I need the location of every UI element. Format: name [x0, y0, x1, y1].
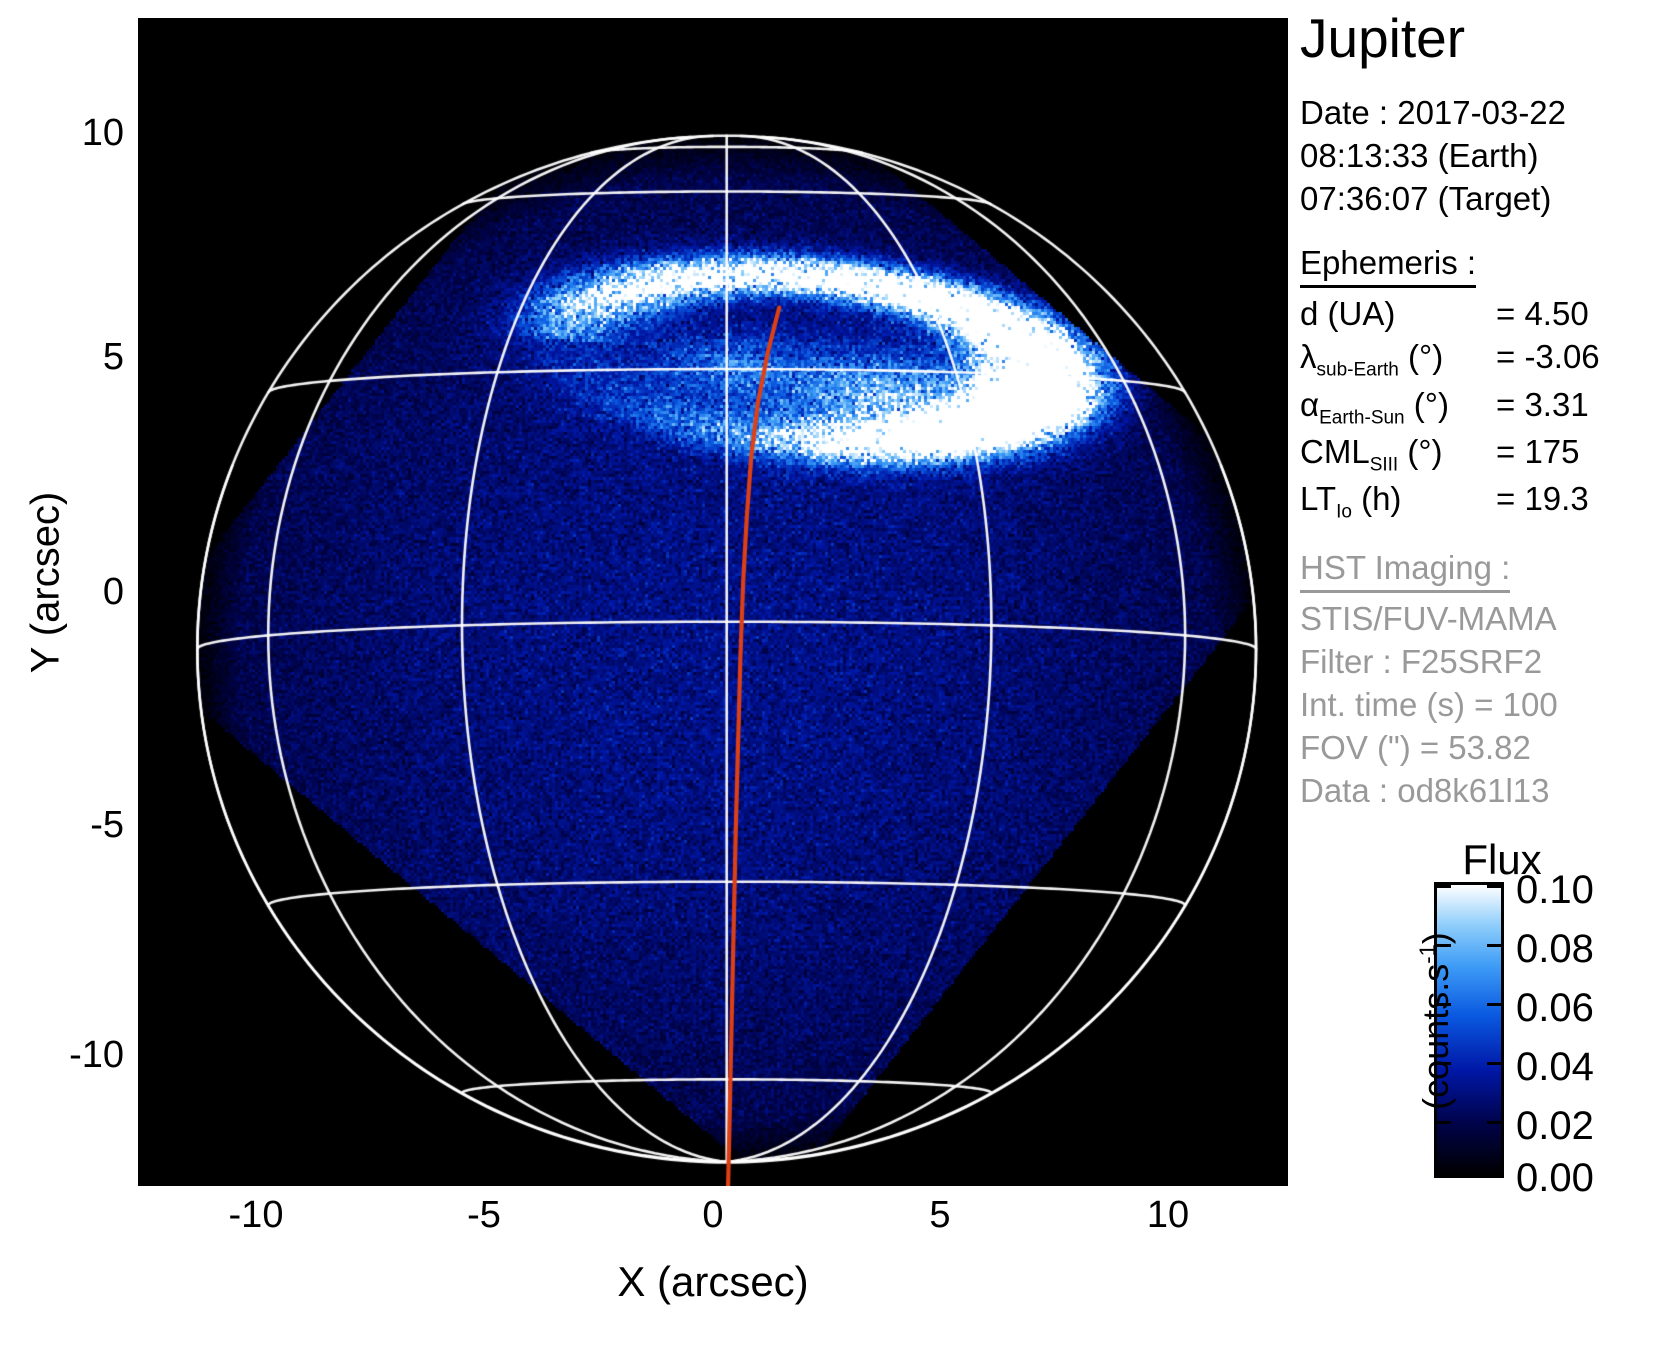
target-title: Jupiter: [1300, 10, 1676, 68]
ephemeris-key-distance-ua: d (UA): [1300, 293, 1496, 336]
colorbar-label-0-02: 0.02: [1516, 1106, 1594, 1146]
ephemeris-value-alpha-earth-sun: = 3.31: [1496, 384, 1589, 431]
y-tick-label-10: 10: [58, 114, 124, 152]
ephemeris-heading: Ephemeris :: [1300, 244, 1476, 288]
hst-instrument: STIS/FUV-MAMA: [1300, 598, 1676, 641]
observation-time-earth: 08:13:33 (Earth): [1300, 135, 1676, 178]
ephemeris-row-alpha-earth-sun: αEarth-Sun (°) = 3.31: [1300, 384, 1676, 431]
colorbar-tick-right-0: [1487, 885, 1501, 888]
colorbar-label-0-06: 0.06: [1516, 988, 1594, 1028]
spacer-2: [1300, 525, 1676, 549]
hst-fov: FOV (") = 53.82: [1300, 727, 1676, 770]
ephemeris-value-lt-io: = 19.3: [1496, 478, 1589, 525]
hst-imaging-section: HST Imaging : STIS/FUV-MAMA Filter : F25…: [1300, 549, 1676, 812]
colorbar-label-0-04: 0.04: [1516, 1047, 1594, 1087]
colorbar-unit-label: (counts.s-1): [1415, 871, 1457, 1171]
hst-imaging-heading: HST Imaging :: [1300, 549, 1510, 593]
hst-dataset-id: Data : od8k61l13: [1300, 770, 1676, 813]
observation-date: Date : 2017-03-22: [1300, 92, 1676, 135]
colorbar-label-0-08: 0.08: [1516, 929, 1594, 969]
ephemeris-key-alpha-earth-sun: αEarth-Sun (°): [1300, 384, 1496, 431]
ephemeris-key-cml-siii: CMLSIII (°): [1300, 431, 1496, 478]
ephemeris-key-lambda-sub-earth: λsub-Earth (°): [1300, 336, 1496, 383]
ephemeris-row-lambda-sub-earth: λsub-Earth (°) = -3.06: [1300, 336, 1676, 383]
info-panel: Jupiter Date : 2017-03-22 08:13:33 (Eart…: [1300, 10, 1676, 813]
x-tick-label-5: 5: [880, 1196, 1000, 1234]
colorbar-tick-right-4: [1487, 1121, 1501, 1124]
x-tick-label-0: 0: [653, 1196, 773, 1234]
colorbar-tick-right-2: [1487, 1003, 1501, 1006]
ephemeris-value-distance-ua: = 4.50: [1496, 293, 1589, 336]
aurora-image-canvas: [138, 18, 1288, 1186]
y-tick-label-5: 5: [58, 338, 124, 376]
ephemeris-value-lambda-sub-earth: = -3.06: [1496, 336, 1600, 383]
ephemeris-key-lt-io: LTIo (h): [1300, 478, 1496, 525]
ephemeris-row-cml-siii: CMLSIII (°) = 175: [1300, 431, 1676, 478]
y-tick-label-neg10: -10: [58, 1036, 124, 1074]
colorbar-label-0-10: 0.10: [1516, 870, 1594, 910]
ephemeris-value-cml-siii: = 175: [1496, 431, 1580, 478]
figure-root: 10 5 0 -5 -10 Y (arcsec) -10 -5 0 5 10 X…: [0, 0, 1676, 1367]
x-tick-label-10: 10: [1108, 1196, 1228, 1234]
colorbar-tick-right-3: [1487, 1062, 1501, 1065]
spacer-1: [1300, 220, 1676, 244]
colorbar-tick-right-1: [1487, 944, 1501, 947]
x-tick-label-neg5: -5: [424, 1196, 544, 1234]
hst-filter: Filter : F25SRF2: [1300, 641, 1676, 684]
hst-int-time: Int. time (s) = 100: [1300, 684, 1676, 727]
y-tick-label-neg5: -5: [58, 806, 124, 844]
observation-time-target: 07:36:07 (Target): [1300, 178, 1676, 221]
x-axis-title: X (arcsec): [138, 1258, 1288, 1306]
colorbar-label-0-00: 0.00: [1516, 1158, 1594, 1198]
aurora-image-plot: [138, 18, 1288, 1186]
y-axis-title: Y (arcsec): [24, 453, 69, 713]
ephemeris-row-lt-io: LTIo (h) = 19.3: [1300, 478, 1676, 525]
ephemeris-section: Ephemeris : d (UA) = 4.50 λsub-Earth (°)…: [1300, 244, 1676, 525]
ephemeris-row-distance-ua: d (UA) = 4.50: [1300, 293, 1676, 336]
x-tick-label-neg10: -10: [196, 1196, 316, 1234]
